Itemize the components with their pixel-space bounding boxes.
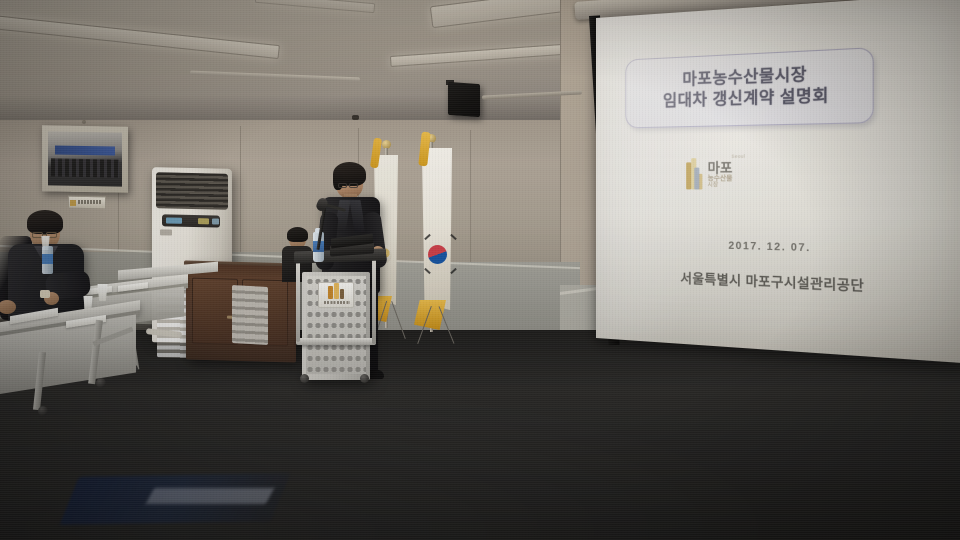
photo-scene: 마포농수산물시장 임대차 갱신계약 설명회 Seoul 마포 농수산물 시장: [0, 0, 960, 540]
color-grade: [0, 0, 960, 540]
